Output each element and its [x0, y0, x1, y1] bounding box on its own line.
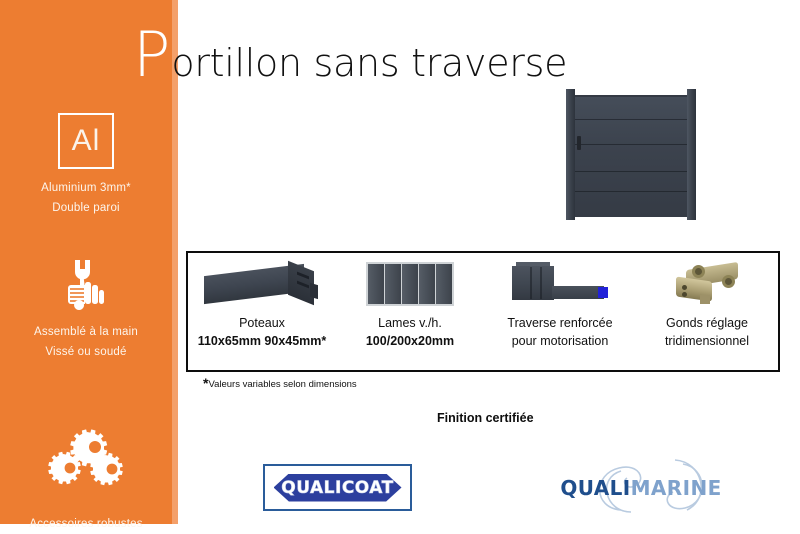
gate-slat-line: [575, 191, 687, 192]
post-profile-icon: [204, 262, 320, 306]
gate-handle-icon: [577, 136, 581, 150]
qualimarine-wordmark-part1: QUALI: [560, 476, 630, 500]
component-traverse-sub: pour motorisation: [484, 332, 636, 350]
qualicoat-logo: QUALICOAT: [263, 464, 412, 511]
component-gonds-title: Gonds réglage: [636, 315, 778, 332]
hinge-icon: [670, 262, 744, 306]
component-poteaux: Poteaux 110x65mm 90x45mm*: [188, 253, 336, 370]
sidebar-feature-assembly: Assemblé à la main Vissé ou soudé: [0, 248, 172, 362]
component-traverse-title: Traverse renforcée: [484, 315, 636, 332]
qualimarine-logo: QUALIMARINE: [557, 462, 725, 512]
gears-icon-wrap: [0, 420, 172, 498]
component-poteaux-title: Poteaux: [188, 315, 336, 332]
certification-label: Finition certifiée: [437, 411, 534, 425]
aluminium-square-icon-wrap: Al: [0, 104, 172, 178]
page-title-text: ortillon sans traverse: [171, 44, 567, 82]
page-title-capital: P: [133, 24, 170, 86]
gate-slat-line: [575, 171, 687, 172]
sidebar-feature-accessories-line1: Accessoires robustes: [0, 514, 172, 534]
component-gonds: Gonds réglage tridimensionnel: [636, 253, 778, 370]
qualicoat-wordmark: QUALICOAT: [265, 478, 410, 498]
aluminium-square-icon: Al: [58, 113, 114, 169]
footnote: *Valeurs variables selon dimensions: [203, 379, 357, 390]
slats-icon: [366, 262, 454, 306]
aluminium-symbol-text: Al: [72, 124, 101, 158]
component-spec-box: Poteaux 110x65mm 90x45mm* Lames v./h. 10…: [186, 251, 780, 372]
qualimarine-wordmark: QUALIMARINE: [557, 476, 725, 500]
component-traverse: Traverse renforcée pour motorisation: [484, 253, 636, 370]
hand-wrench-icon: [55, 254, 117, 316]
hand-wrench-icon-wrap: [0, 248, 172, 322]
gate-slat-line: [575, 119, 687, 120]
sidebar-feature-aluminium-line1: Aluminium 3mm*: [0, 178, 172, 198]
sidebar-feature-assembly-line1: Assemblé à la main: [0, 322, 172, 342]
gate-post-left: [566, 89, 575, 220]
gate-post-right: [687, 89, 696, 220]
motor-crossbar-icon-wrap: [484, 253, 636, 315]
page-title: P ortillon sans traverse: [133, 24, 567, 86]
sidebar-feature-aluminium: Al Aluminium 3mm* Double paroi: [0, 104, 172, 218]
component-lames: Lames v./h. 100/200x20mm: [336, 253, 484, 370]
motor-crossbar-icon: [508, 262, 612, 306]
hero-gate-image: [566, 89, 696, 220]
component-poteaux-sub: 110x65mm 90x45mm*: [188, 332, 336, 350]
hinge-icon-wrap: [636, 253, 778, 315]
qualimarine-wordmark-part2: MARINE: [631, 476, 722, 500]
component-lames-title: Lames v./h.: [336, 315, 484, 332]
gate-slat-line: [575, 144, 687, 145]
component-lames-sub: 100/200x20mm: [336, 332, 484, 350]
product-spec-sheet: Al Aluminium 3mm* Double paroi: [0, 0, 800, 534]
component-gonds-sub: tridimensionnel: [636, 332, 778, 350]
slats-icon-wrap: [336, 253, 484, 315]
sidebar-feature-assembly-line2: Vissé ou soudé: [0, 342, 172, 362]
motor-led-indicator: [598, 287, 608, 298]
sidebar-feature-aluminium-line2: Double paroi: [0, 198, 172, 218]
gate-panel: [575, 95, 687, 217]
sidebar-feature-accessories: Accessoires robustes: [0, 420, 172, 534]
footnote-text: Valeurs variables selon dimensions: [208, 379, 356, 390]
gears-icon: [43, 428, 129, 490]
post-profile-icon-wrap: [188, 253, 336, 315]
